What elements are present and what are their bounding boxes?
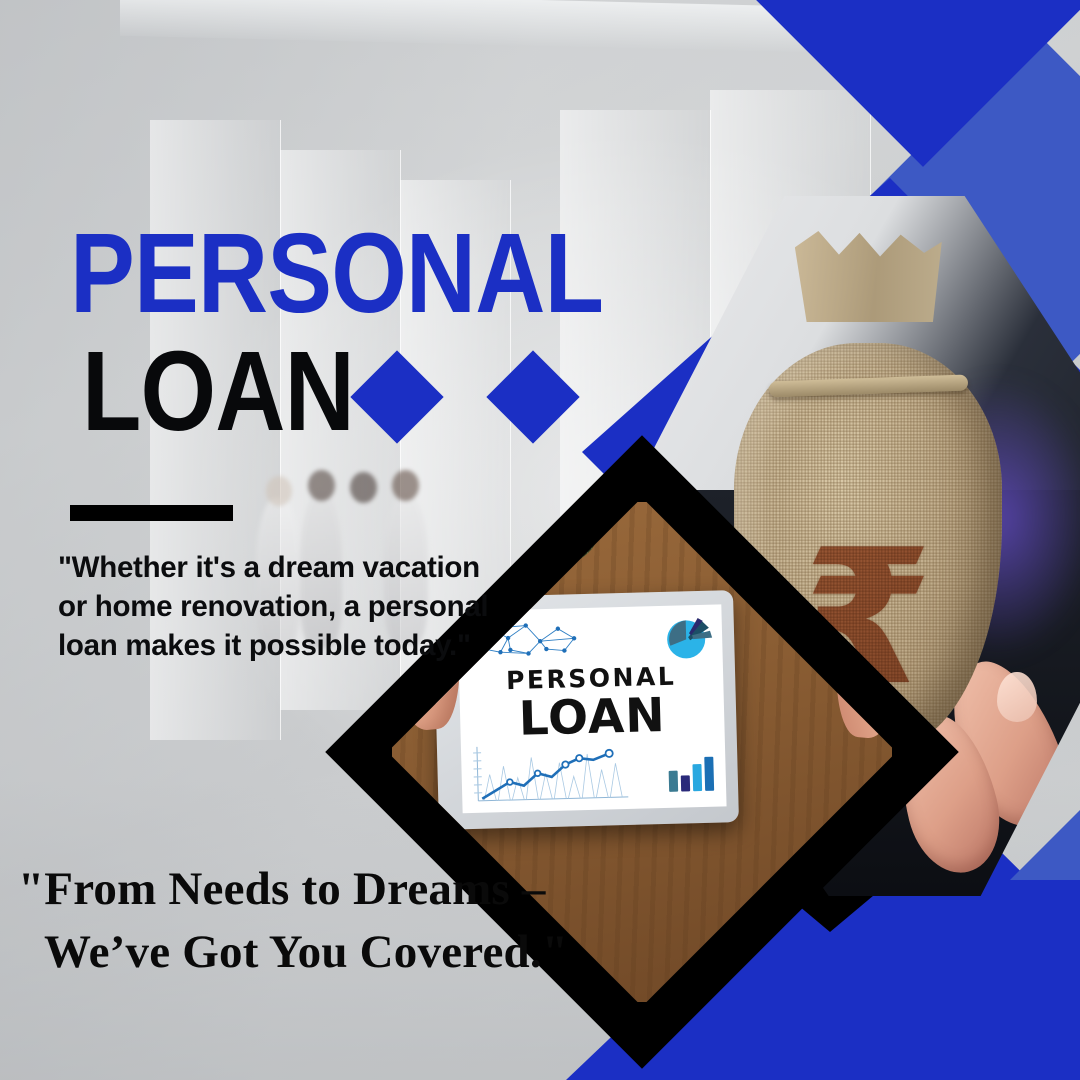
bg-person-1-head: [266, 476, 292, 506]
tagline: "From Needs to Dreams – We’ve Got You Co…: [18, 858, 578, 984]
mini-bar-chart: [668, 757, 714, 792]
page-title-line1: PERSONAL: [70, 222, 603, 326]
bg-person-2-head: [308, 470, 335, 501]
tablet-title-loan: LOAN: [460, 686, 725, 748]
bag-fingernail-2: [997, 672, 1037, 722]
poster-canvas: ₹: [0, 0, 1080, 1080]
mini-bar-2: [681, 776, 690, 792]
page-title-line2: LOAN: [70, 340, 354, 444]
title-underline: [70, 505, 233, 521]
mini-bar-1: [669, 771, 679, 792]
bg-person-4-head: [392, 470, 419, 501]
trend-line-chart: [469, 741, 631, 805]
body-quote: "Whether it's a dream vacation or home r…: [58, 548, 506, 666]
tagline-line1: "From Needs to Dreams –: [18, 863, 546, 915]
mini-bar-4: [704, 757, 714, 791]
tagline-line2: We’ve Got You Covered.": [18, 921, 578, 984]
pie-chart-icon: [661, 611, 714, 664]
bg-person-3-head: [350, 472, 377, 503]
mini-bar-3: [692, 764, 702, 791]
